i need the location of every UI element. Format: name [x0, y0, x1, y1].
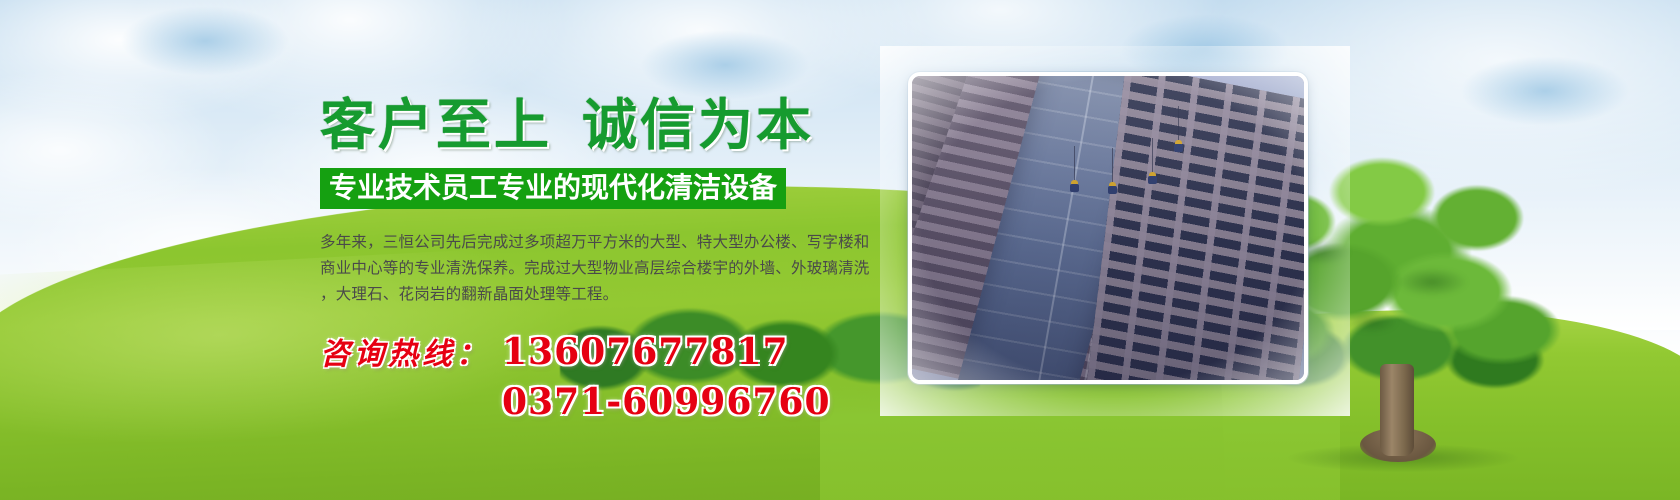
subtitle-bar: 专业技术员工专业的现代化清洁设备: [320, 168, 786, 209]
description-line: 多年来，三恒公司先后完成过多项超万平方米的大型、特大型办公楼、写字楼和: [320, 229, 890, 255]
headline-part-2: 诚信为本: [582, 92, 814, 157]
sky-patch: [640, 30, 810, 100]
banner-copy: 客户至上诚信为本 专业技术员工专业的现代化清洁设备 多年来，三恒公司先后完成过多…: [320, 96, 900, 423]
headline: 客户至上诚信为本: [320, 96, 900, 154]
description-paragraph: 多年来，三恒公司先后完成过多项超万平方米的大型、特大型办公楼、写字楼和 商业中心…: [320, 229, 890, 307]
sky-patch: [120, 6, 290, 76]
building-photo: [912, 76, 1304, 380]
hotline-number-primary[interactable]: 13607677817: [502, 331, 789, 373]
sky-patch: [1460, 56, 1630, 126]
promo-banner: 客户至上诚信为本 专业技术员工专业的现代化清洁设备 多年来，三恒公司先后完成过多…: [0, 0, 1680, 500]
building-photo-frame: [908, 72, 1308, 384]
hotline-label: 咨询热线：: [320, 337, 490, 372]
hotline-block: 咨询热线：13607677817 0371-60996760: [320, 329, 900, 423]
headline-part-1: 客户至上: [320, 92, 552, 157]
hotline-number-secondary[interactable]: 0371-60996760: [502, 381, 900, 423]
description-line: 商业中心等的专业清洗保养。完成过大型物业高层综合楼宇的外墙、外玻璃清洗: [320, 255, 890, 281]
photo-shading: [912, 76, 1304, 380]
description-line: ，大理石、花岗岩的翻新晶面处理等工程。: [320, 281, 890, 307]
subtitle-text: 专业技术员工专业的现代化清洁设备: [329, 173, 777, 202]
